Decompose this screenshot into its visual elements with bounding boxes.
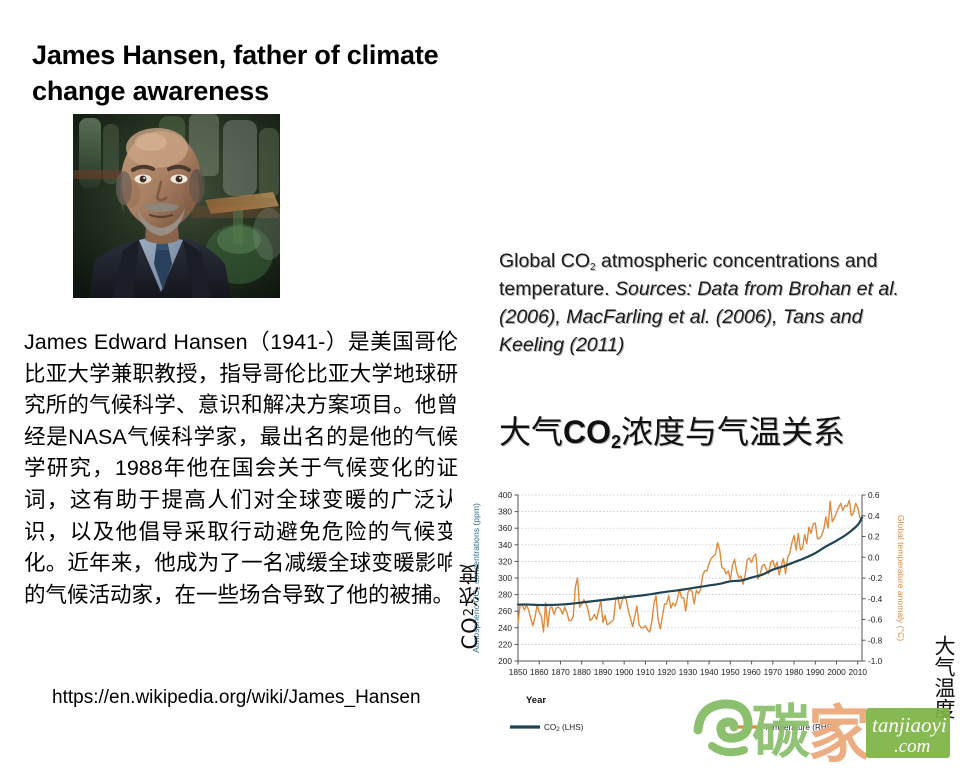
chart-x-tick-label: 1970 bbox=[764, 667, 783, 677]
legend-label-temperature: Temperature (RHS) bbox=[764, 723, 835, 732]
chart-x-tick-label: 2010 bbox=[849, 667, 868, 677]
chart-x-tick-label: 1940 bbox=[700, 667, 719, 677]
figure-caption: Global CO2 atmospheric concentrations an… bbox=[499, 248, 911, 360]
chart-left-tick-label: 340 bbox=[498, 540, 512, 550]
chart-right-tick-label: 0.6 bbox=[868, 490, 880, 500]
chart-right-axis-chinese-label: 大气温度 bbox=[929, 635, 959, 719]
chart-left-tick-label: 220 bbox=[498, 639, 512, 649]
chart-canvas: 200220240260280300320340360380400-1.0-0.… bbox=[452, 485, 960, 768]
portrait-photo bbox=[73, 114, 280, 298]
heading-co2: CO bbox=[563, 414, 611, 450]
cn-left-co2-sub: 2 bbox=[462, 607, 477, 616]
heading-prefix: 大气 bbox=[499, 413, 563, 451]
heading-co2-subscript: 2 bbox=[611, 432, 621, 452]
chart-right-tick-label: -1.0 bbox=[868, 656, 883, 666]
chart-x-axis-title: Year bbox=[526, 695, 546, 706]
chart-left-tick-label: 360 bbox=[498, 523, 512, 533]
cn-left-rest: 浓度 bbox=[458, 563, 482, 607]
chart-left-tick-label: 200 bbox=[498, 656, 512, 666]
chart-x-tick-label: 1870 bbox=[551, 667, 570, 677]
chart-right-axis-title: Global temperature anomaly (°C) bbox=[896, 515, 906, 641]
chart-x-tick-label: 1910 bbox=[636, 667, 655, 677]
chart-x-tick-label: 1960 bbox=[742, 667, 761, 677]
chart-left-tick-label: 240 bbox=[498, 623, 512, 633]
chart-right-tick-label: 0.0 bbox=[868, 552, 880, 562]
chart-right-tick-label: -0.4 bbox=[868, 594, 883, 604]
legend-label-co2: CO2 (LHS) bbox=[544, 723, 584, 733]
chart-x-tick-label: 1990 bbox=[806, 667, 825, 677]
chart-x-tick-label: 1950 bbox=[721, 667, 740, 677]
chart-left-tick-label: 380 bbox=[498, 507, 512, 517]
chart-x-tick-label: 1930 bbox=[679, 667, 698, 677]
chart-x-tick-label: 1900 bbox=[615, 667, 634, 677]
chart-x-tick-label: 2000 bbox=[827, 667, 846, 677]
chart-right-tick-label: 0.2 bbox=[868, 532, 880, 542]
chart-x-tick-label: 1880 bbox=[572, 667, 591, 677]
chart-right-tick-label: -0.8 bbox=[868, 635, 883, 645]
chart-left-tick-label: 400 bbox=[498, 490, 512, 500]
chart-left-axis-chinese-label: CO2浓度 bbox=[455, 563, 485, 649]
chart-left-tick-label: 300 bbox=[498, 573, 512, 583]
caption-line1-pre: Global CO bbox=[499, 250, 590, 272]
chart-x-tick-label: 1920 bbox=[657, 667, 676, 677]
biography-text: James Edward Hansen（1941-）是美国哥伦比亚大学兼职教授，… bbox=[24, 327, 458, 611]
chart-x-tick-label: 1980 bbox=[785, 667, 804, 677]
heading-suffix: 浓度与气温关系 bbox=[621, 413, 845, 451]
chart-x-tick-label: 1890 bbox=[594, 667, 613, 677]
chart-heading-chinese: 大气CO2浓度与气温关系 bbox=[499, 413, 845, 454]
page-title: James Hansen, father of climate change a… bbox=[32, 38, 452, 109]
chart-right-tick-label: 0.4 bbox=[868, 511, 880, 521]
chart-right-tick-label: -0.2 bbox=[868, 573, 883, 583]
chart-left-tick-label: 320 bbox=[498, 556, 512, 566]
portrait-photo-image bbox=[73, 114, 280, 298]
cn-left-co2: CO bbox=[458, 616, 482, 649]
chart-right-tick-label: -0.6 bbox=[868, 615, 883, 625]
chart-x-tick-label: 1860 bbox=[530, 667, 549, 677]
chart-left-tick-label: 280 bbox=[498, 590, 512, 600]
chart-x-tick-label: 1850 bbox=[509, 667, 528, 677]
chart-left-tick-label: 260 bbox=[498, 606, 512, 616]
source-url[interactable]: https://en.wikipedia.org/wiki/James_Hans… bbox=[52, 686, 452, 710]
co2-temperature-chart: 200220240260280300320340360380400-1.0-0.… bbox=[452, 485, 960, 768]
